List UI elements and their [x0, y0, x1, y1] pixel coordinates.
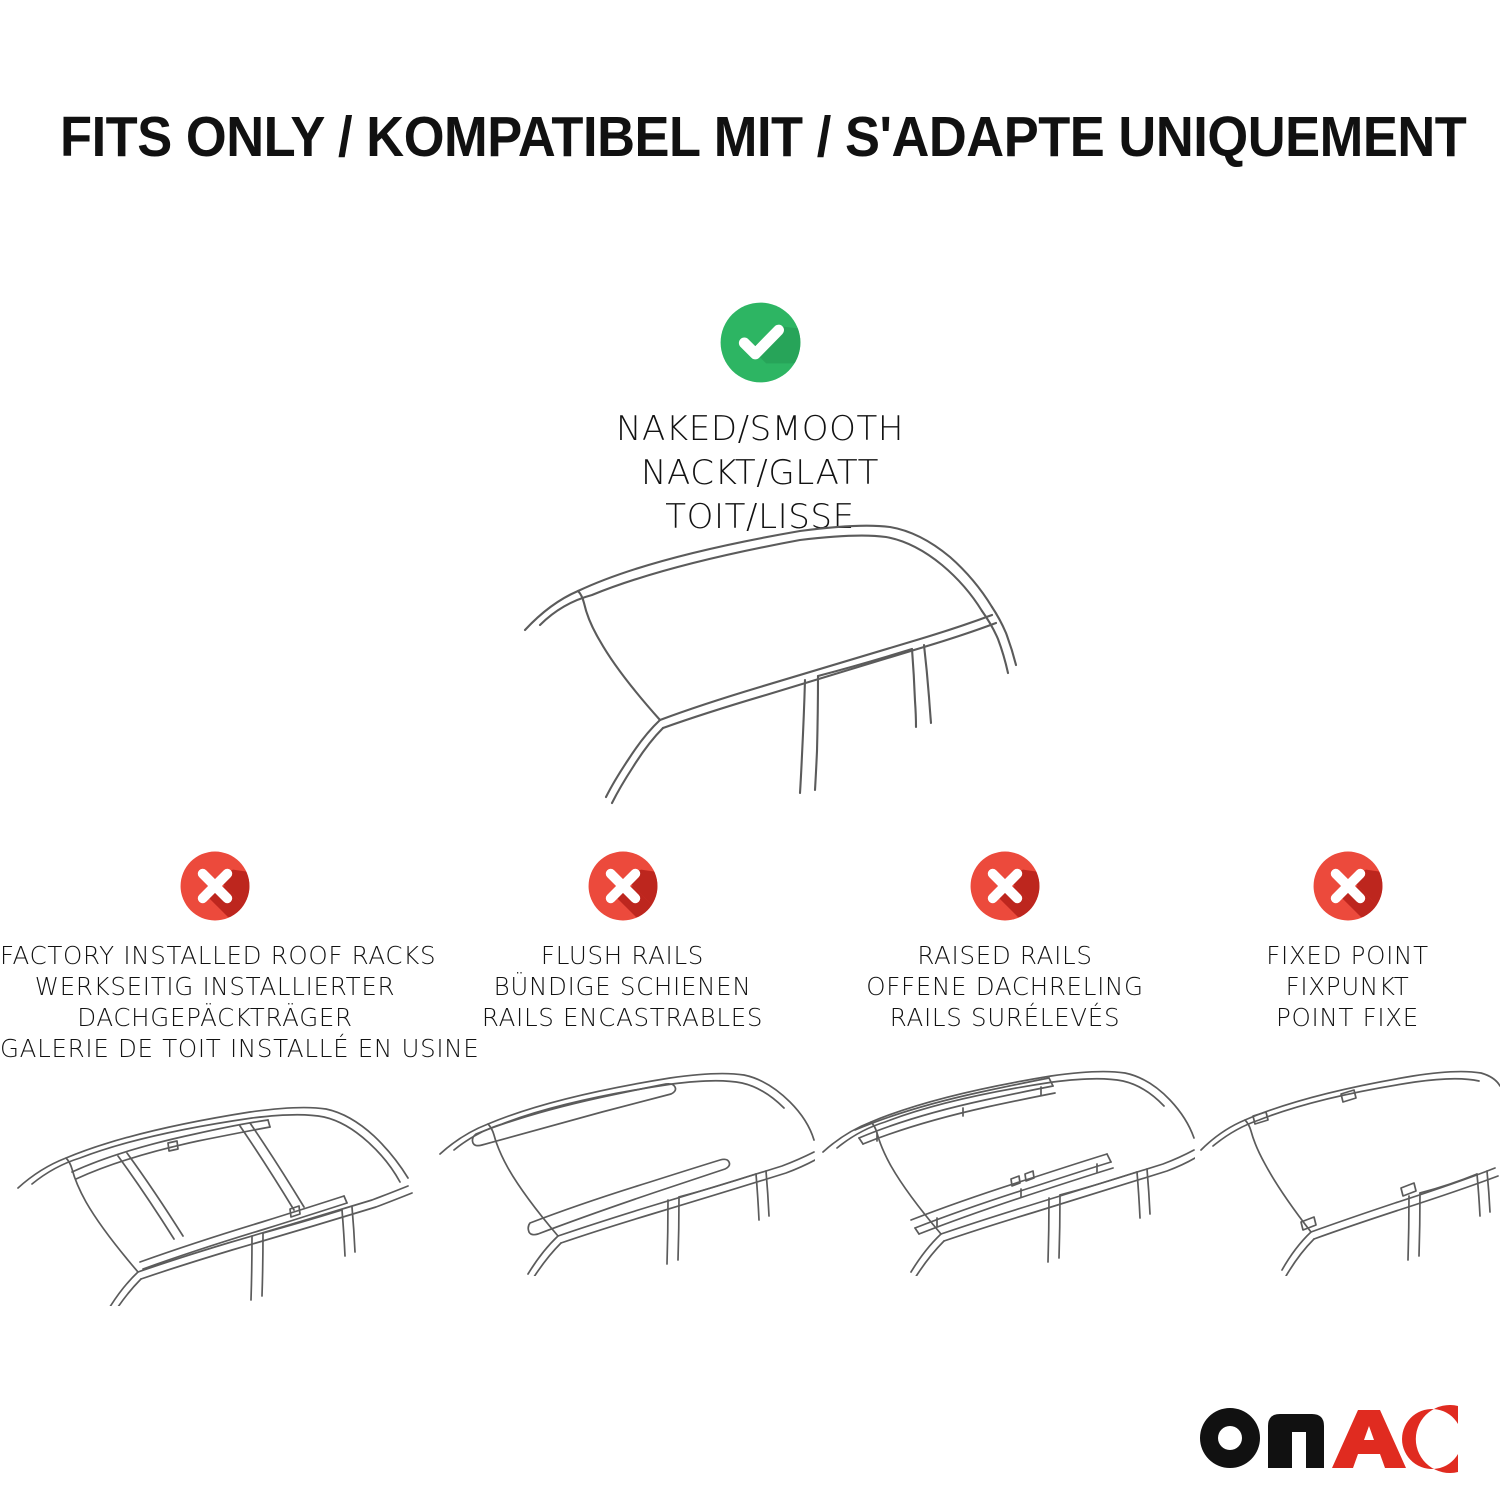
not-fits-item-factory-roof-racks: FACTORY INSTALLED ROOF RACKS WERKSEITIG …	[0, 845, 430, 1306]
not-fits-section: FACTORY INSTALLED ROOF RACKS WERKSEITIG …	[0, 845, 1500, 1306]
caption-line-fr: GALERIE DE TOIT INSTALLÉ EN USINE	[0, 1034, 430, 1065]
check-circle-icon	[713, 295, 808, 390]
page-title: FITS ONLY / KOMPATIBEL MIT / S'ADAPTE UN…	[60, 104, 1440, 170]
not-fits-caption: FACTORY INSTALLED ROOF RACKS WERKSEITIG …	[0, 941, 430, 1064]
caption-line-de-1: WERKSEITIG INSTALLIERTER	[0, 972, 430, 1003]
caption-line-fr: RAILS ENCASTRABLES	[430, 1003, 815, 1034]
not-fits-item-raised-rails: RAISED RAILS OFFENE DACHRELING RAILS SUR…	[815, 845, 1195, 1306]
caption-line-en: FLUSH RAILS	[430, 941, 815, 972]
not-fits-caption: FLUSH RAILS BÜNDIGE SCHIENEN RAILS ENCAS…	[430, 941, 815, 1034]
roof-with-flush-rails-illustration	[430, 1046, 815, 1276]
caption-line-de-2: DACHGEPÄCKTRÄGER	[0, 1003, 430, 1034]
caption-line-en: FIXED POINT	[1195, 941, 1500, 972]
x-circle-icon	[964, 845, 1046, 927]
caption-line-de: OFFENE DACHRELING	[815, 972, 1195, 1003]
fits-caption-line-en: NAKED/SMOOTH	[450, 407, 1070, 451]
roof-with-fixed-points-illustration	[1195, 1046, 1500, 1276]
bare-smooth-roof-illustration	[500, 515, 1030, 805]
caption-line-fr: POINT FIXE	[1195, 1003, 1500, 1034]
caption-line-de: FIXPUNKT	[1195, 972, 1500, 1003]
caption-line-en: FACTORY INSTALLED ROOF RACKS	[0, 941, 430, 972]
caption-line-de: BÜNDIGE SCHIENEN	[430, 972, 815, 1003]
caption-line-en: RAISED RAILS	[815, 941, 1195, 972]
x-circle-icon	[1307, 845, 1389, 927]
logo-letter-m	[1268, 1414, 1324, 1468]
not-fits-caption: FIXED POINT FIXPUNKT POINT FIXE	[1195, 941, 1500, 1034]
not-fits-caption: RAISED RAILS OFFENE DACHRELING RAILS SUR…	[815, 941, 1195, 1034]
logo-letter-c	[1402, 1405, 1458, 1473]
caption-line-fr: RAILS SURÉLEVÉS	[815, 1003, 1195, 1034]
logo-letter-o	[1200, 1408, 1260, 1468]
omac-logo	[1194, 1402, 1464, 1474]
x-circle-icon	[174, 845, 256, 927]
logo-letter-a	[1332, 1410, 1406, 1468]
fits-section: NAKED/SMOOTH NACKT/GLATT TOIT/LISSE	[450, 295, 1070, 540]
roof-with-rails-and-crossbars-illustration	[0, 1076, 430, 1306]
not-fits-item-flush-rails: FLUSH RAILS BÜNDIGE SCHIENEN RAILS ENCAS…	[430, 845, 815, 1306]
not-fits-item-fixed-point: FIXED POINT FIXPUNKT POINT FIXE	[1195, 845, 1500, 1306]
fits-caption-line-de: NACKT/GLATT	[450, 451, 1070, 495]
x-circle-icon	[582, 845, 664, 927]
roof-with-raised-rails-illustration	[815, 1046, 1195, 1276]
